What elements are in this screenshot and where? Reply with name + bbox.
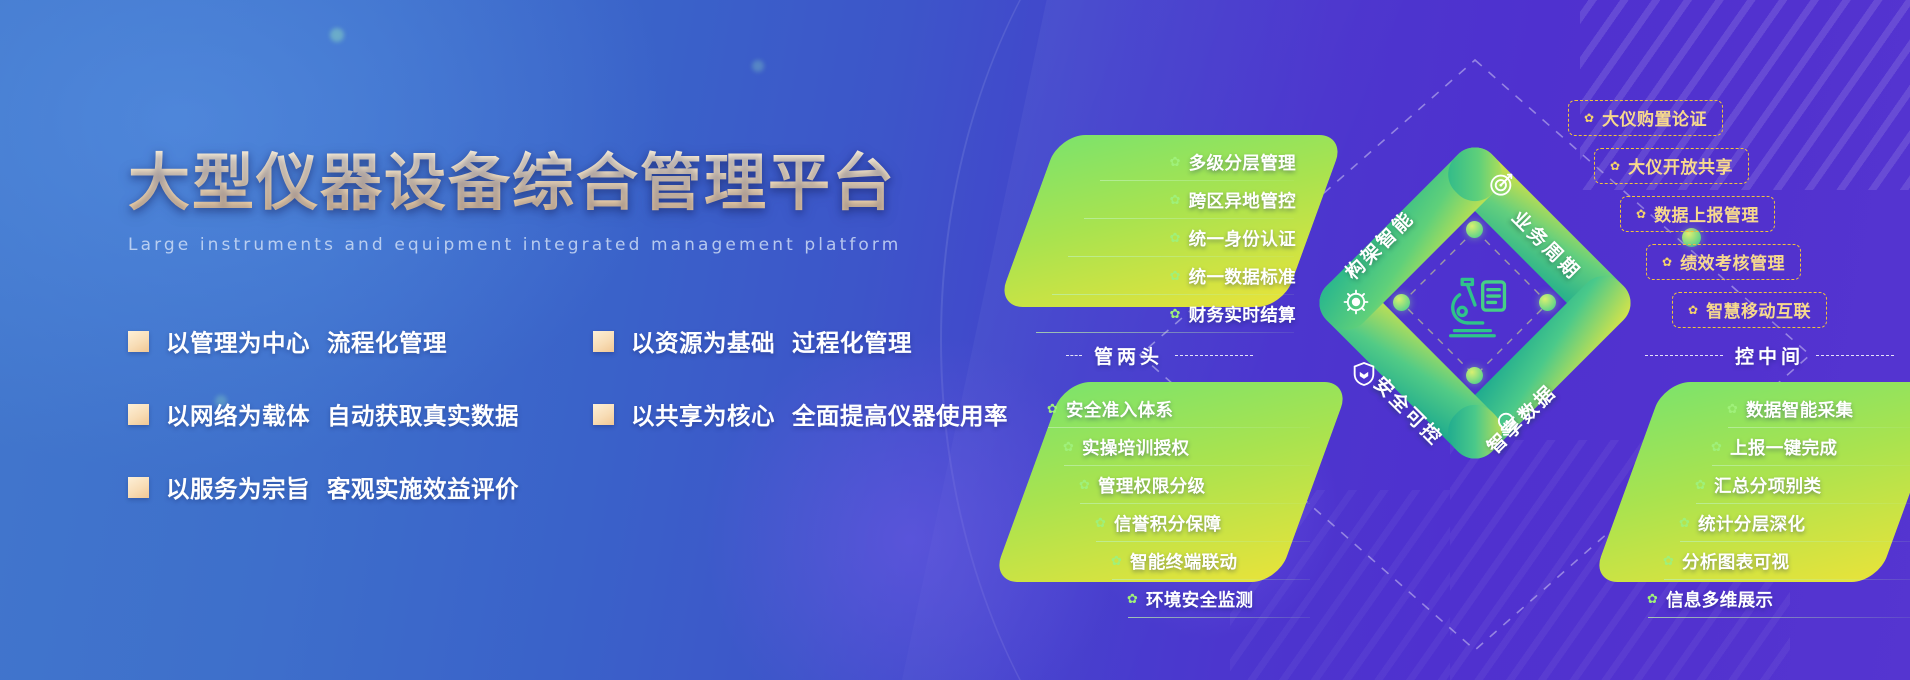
list-item: ✿ 统一数据标准 [1050,264,1296,292]
list-item-label: 安全准入体系 [1066,397,1173,422]
list-item-label: 数据智能采集 [1746,397,1853,422]
flower-star-icon: ✿ [1169,270,1182,283]
axis-label-right: 控中间 [1645,342,1894,369]
dashed-line-decoration [1066,355,1082,356]
panel-bottom-left: ✿ 安全准入体系 ✿ 实操培训授权 ✿ 管理权限分级 ✿ 信誉积分保障 [992,382,1351,582]
flower-star-icon: ✿ [1062,441,1075,454]
list-item: ✿ 信誉积分保障 [1094,511,1312,539]
flower-star-icon: ✿ [1662,256,1672,268]
feature-label: 以管理为中心流程化管理 [166,324,447,358]
bullet-square-icon [128,477,149,498]
list-item: ✿ 信息多维展示 [1646,587,1910,615]
feature-label: 以服务为宗旨客观实施效益评价 [166,470,519,504]
flower-star-icon: ✿ [1584,112,1594,124]
badge-label: 绩效考核管理 [1680,249,1785,274]
list-item-label: 实操培训授权 [1082,435,1189,460]
list-item: ✿ 多级分层管理 [1098,150,1296,178]
flower-star-icon: ✿ [1694,479,1707,492]
list-item-label: 智能终端联动 [1130,549,1237,574]
node-dot [1393,294,1410,311]
target-icon [1488,170,1516,198]
list-item-label: 分析图表可视 [1682,549,1789,574]
banner-root: 大型仪器设备综合管理平台 Large instruments and equip… [0,0,1910,680]
list-item-label: 跨区异地管控 [1189,188,1296,213]
list-item: ✿ 实操培训授权 [1062,435,1312,463]
feature-item: 以资源为基础过程化管理 [593,324,1058,358]
list-item: ✿ 安全准入体系 [1046,397,1312,425]
flower-star-icon: ✿ [1636,208,1646,220]
flower-star-icon: ✿ [1678,517,1691,530]
list-item-label: 统计分层深化 [1698,511,1805,536]
feature-item: 以管理为中心流程化管理 [128,324,593,358]
core-diamond: 构架智能 业务周期 安全可控 智享数据 [1320,148,1630,458]
flower-star-icon: ✿ [1078,479,1091,492]
list-item-label: 上报一键完成 [1730,435,1837,460]
flower-star-icon: ✿ [1094,517,1107,530]
bullet-square-icon [593,404,614,425]
feature-label: 以共享为核心全面提高仪器使用率 [631,397,1008,431]
feature-label: 以网络为载体自动获取真实数据 [166,397,519,431]
sparkle-icon [752,60,764,72]
hero-text-panel: 大型仪器设备综合管理平台 Large instruments and equip… [128,150,1048,524]
bullet-square-icon [128,404,149,425]
list-item: ✿ 上报一键完成 [1710,435,1910,463]
list-item: ✿ 管理权限分级 [1078,473,1312,501]
sparkle-icon [330,28,344,42]
flower-star-icon: ✿ [1110,555,1123,568]
list-item: ✿ 统一身份认证 [1066,226,1296,254]
list-item-label: 管理权限分级 [1098,473,1205,498]
flower-star-icon: ✿ [1726,403,1739,416]
list-item-label: 统一身份认证 [1189,226,1296,251]
list-item: ✿ 汇总分项别类 [1694,473,1910,501]
shield-icon [1350,360,1378,388]
list-item: ✿ 统计分层深化 [1678,511,1910,539]
flower-star-icon: ✿ [1169,194,1182,207]
dashed-line-decoration [1645,355,1723,356]
node-dot [1539,294,1556,311]
dashed-line-decoration [1816,355,1894,356]
list-item: ✿ 环境安全监测 [1126,587,1312,615]
flower-star-icon: ✿ [1169,156,1182,169]
panel-top-left: ✿ 多级分层管理 ✿ 跨区异地管控 ✿ 统一身份认证 ✿ 统一数据标准 [997,135,1346,307]
axis-label-left: 管两头 [1066,342,1253,369]
gear-icon [1342,288,1370,316]
list-item-label: 汇总分项别类 [1714,473,1821,498]
lightbulb-icon [1492,410,1520,438]
list-item-label: 环境安全监测 [1146,587,1253,612]
badge-label: 数据上报管理 [1654,201,1759,226]
flower-star-icon: ✿ [1688,304,1698,316]
list-bottom-left: ✿ 安全准入体系 ✿ 实操培训授权 ✿ 管理权限分级 ✿ 信誉积分保障 [1030,384,1312,580]
feature-item: 以服务为宗旨客观实施效益评价 [128,470,593,504]
list-top-left: ✿ 多级分层管理 ✿ 跨区异地管控 ✿ 统一身份认证 ✿ 统一数据标准 [1030,137,1312,305]
badge-label: 大仪开放共享 [1628,153,1733,178]
list-item-label: 信誉积分保障 [1114,511,1221,536]
flower-star-icon: ✿ [1646,593,1659,606]
badge[interactable]: ✿ 智慧移动互联 [1672,292,1827,328]
list-item: ✿ 跨区异地管控 [1082,188,1296,216]
page-title: 大型仪器设备综合管理平台 [128,150,1048,217]
dashed-line-decoration [1175,355,1253,356]
flower-star-icon: ✿ [1046,403,1059,416]
bullet-square-icon [593,331,614,352]
badge[interactable]: ✿ 数据上报管理 [1620,196,1775,232]
list-bottom-right: ✿ 数据智能采集 ✿ 上报一键完成 ✿ 汇总分项别类 ✿ 统计分层深化 [1630,384,1910,580]
bullet-square-icon [128,331,149,352]
feature-item: 以共享为核心全面提高仪器使用率 [593,397,1058,431]
flower-star-icon: ✿ [1169,308,1182,321]
flower-star-icon: ✿ [1710,441,1723,454]
panel-bottom-right: ✿ 数据智能采集 ✿ 上报一键完成 ✿ 汇总分项别类 ✿ 统计分层深化 [1592,382,1910,582]
flower-star-icon: ✿ [1662,555,1675,568]
badge-row: ✿ 大仪购置论证 [1550,100,1910,136]
list-item-label: 多级分层管理 [1189,150,1296,175]
list-item-label: 信息多维展示 [1666,587,1773,612]
node-dot [1466,367,1483,384]
feature-item: 以网络为载体自动获取真实数据 [128,397,593,431]
axis-label-right-text: 控中间 [1735,342,1804,369]
badge[interactable]: ✿ 大仪购置论证 [1568,100,1723,136]
microscope-icon [1434,264,1516,346]
badge-label: 大仪购置论证 [1602,105,1707,130]
badge-label: 智慧移动互联 [1706,297,1811,322]
flower-star-icon: ✿ [1126,593,1139,606]
list-item-label: 财务实时结算 [1189,302,1296,327]
page-subtitle: Large instruments and equipment integrat… [128,235,1048,255]
list-item: ✿ 分析图表可视 [1662,549,1910,577]
list-item: ✿ 数据智能采集 [1726,397,1910,425]
list-item: ✿ 智能终端联动 [1110,549,1312,577]
feature-label: 以资源为基础过程化管理 [631,324,912,358]
feature-list: 以管理为中心流程化管理 以资源为基础过程化管理 以网络为载体自动获取真实数据 以… [128,305,1048,524]
diagram-root: 管两头 控中间 ✿ 多级分层管理 [1020,0,1910,680]
axis-label-left-text: 管两头 [1094,342,1163,369]
badge[interactable]: ✿ 绩效考核管理 [1646,244,1801,280]
node-dot [1466,221,1483,238]
flower-star-icon: ✿ [1169,232,1182,245]
list-item: ✿ 财务实时结算 [1034,302,1296,330]
list-item-label: 统一数据标准 [1189,264,1296,289]
